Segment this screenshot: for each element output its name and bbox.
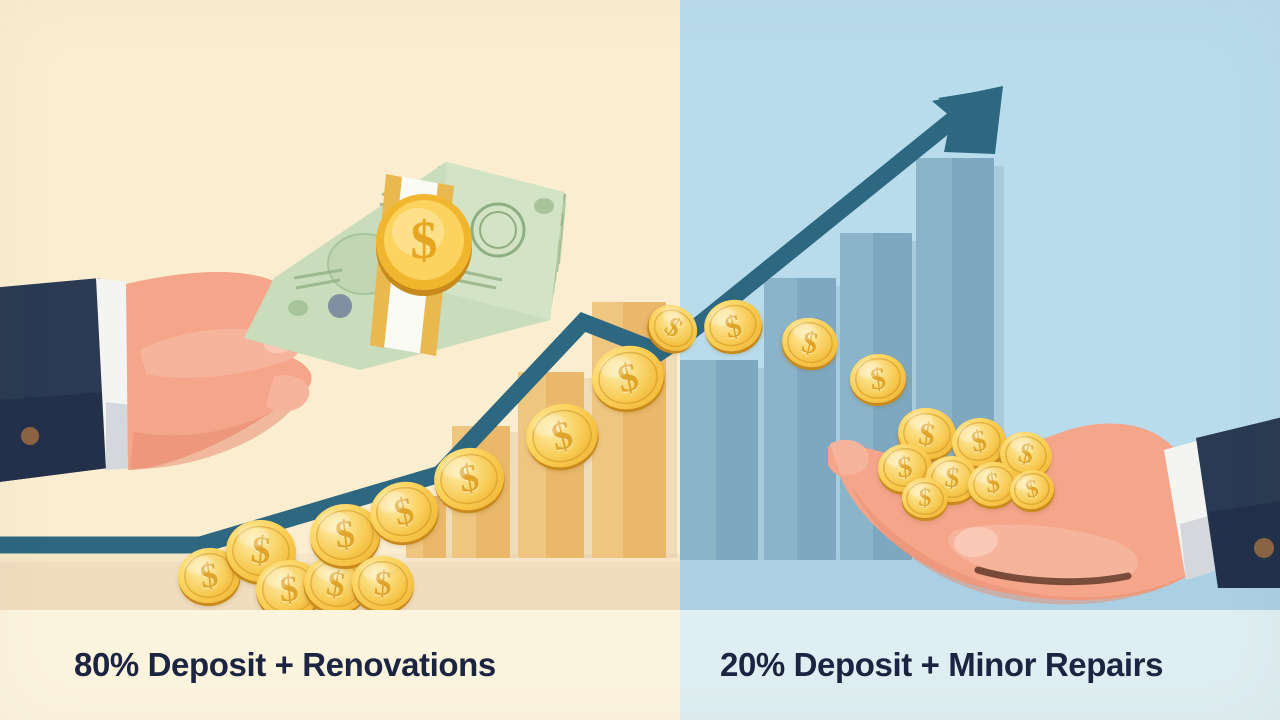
caption-band: 80% Deposit + Renovations 20% Deposit + … xyxy=(0,610,1280,720)
left-caption-text: 80% Deposit + Renovations xyxy=(74,646,496,684)
suit-button-icon xyxy=(21,427,39,445)
right-caption-cell: 20% Deposit + Minor Repairs xyxy=(680,610,1280,720)
coin-rim: $ xyxy=(436,449,501,509)
coin-rim: $ xyxy=(372,482,437,542)
coin-rim: $ xyxy=(594,346,663,409)
right-hand-receiving-coins xyxy=(828,392,1280,622)
svg-text:$: $ xyxy=(411,210,438,270)
banknote-stack-icon: $ xyxy=(146,160,566,385)
coin-rim: $ xyxy=(1011,470,1053,509)
left-caption-cell: 80% Deposit + Renovations xyxy=(0,610,680,720)
coin-on-bundle-icon: $ xyxy=(376,194,472,296)
infographic-canvas: $ $$$$$$$$$$$$$$$$$$$$$$ xyxy=(0,0,1280,720)
suit-button-icon xyxy=(1254,538,1274,558)
right-caption-text: 20% Deposit + Minor Repairs xyxy=(720,646,1163,684)
coin-gloss xyxy=(909,482,930,496)
suit-sleeve-left xyxy=(0,278,114,486)
